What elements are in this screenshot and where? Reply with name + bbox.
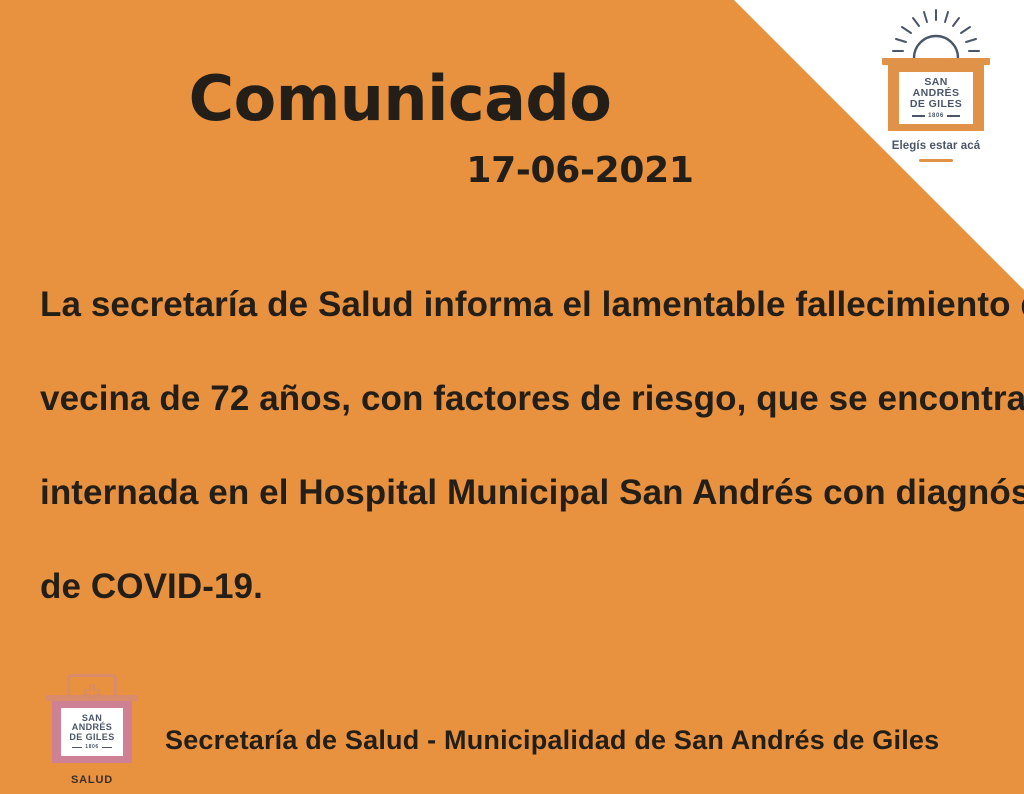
arch-lintel xyxy=(882,58,990,65)
tagline-underline xyxy=(919,159,953,162)
logo-year-rule: 1806 xyxy=(912,113,960,119)
rule-left xyxy=(72,747,82,749)
medical-bag-handle-icon xyxy=(67,674,117,696)
rule-right xyxy=(102,747,112,749)
logo-founding-year: 1806 xyxy=(928,113,944,119)
body-line: La secretaría de Salud informa el lament… xyxy=(40,278,996,372)
arch-nameplate: SAN ANDRÉS DE GILES 1806 xyxy=(899,72,973,124)
body-line: de COVID-19. xyxy=(40,560,996,654)
health-department-logo: SAN ANDRÉS DE GILES 1806 SALUD xyxy=(40,674,144,786)
body-line: vecina de 72 años, con factores de riesg… xyxy=(40,372,996,466)
medical-cross-icon xyxy=(84,684,101,701)
rule-right xyxy=(947,115,960,117)
announcement-body: La secretaría de Salud informa el lament… xyxy=(40,278,996,654)
health-logo-label: SALUD xyxy=(40,774,144,786)
health-name-line-3: DE GILES xyxy=(69,733,114,742)
health-year-rule: 1806 xyxy=(72,745,112,750)
body-line: internada en el Hospital Municipal San A… xyxy=(40,466,996,560)
municipal-logo: SAN ANDRÉS DE GILES 1806 Elegís estar ac… xyxy=(868,8,1004,162)
medical-bag-body: SAN ANDRÉS DE GILES 1806 xyxy=(52,701,132,763)
logo-tagline: Elegís estar acá xyxy=(868,140,1004,152)
bag-nameplate: SAN ANDRÉS DE GILES 1806 xyxy=(61,708,123,756)
arch-body: SAN ANDRÉS DE GILES 1806 xyxy=(888,65,984,131)
logo-name-line-3: DE GILES xyxy=(910,99,962,110)
sun-icon xyxy=(886,8,986,60)
headline-block: Comunicado 17-06-2021 xyxy=(0,68,800,191)
poster-footer: Secretaría de Salud - Municipalidad de S… xyxy=(165,725,939,756)
health-founding-year: 1806 xyxy=(85,745,99,750)
arch-emblem: SAN ANDRÉS DE GILES 1806 xyxy=(882,58,990,131)
rule-left xyxy=(912,115,925,117)
page-title: Comunicado xyxy=(0,68,800,130)
covid-announcement-poster: SAN ANDRÉS DE GILES 1806 Elegís estar ac… xyxy=(0,0,1024,794)
poster-date: 17-06-2021 xyxy=(0,150,800,191)
